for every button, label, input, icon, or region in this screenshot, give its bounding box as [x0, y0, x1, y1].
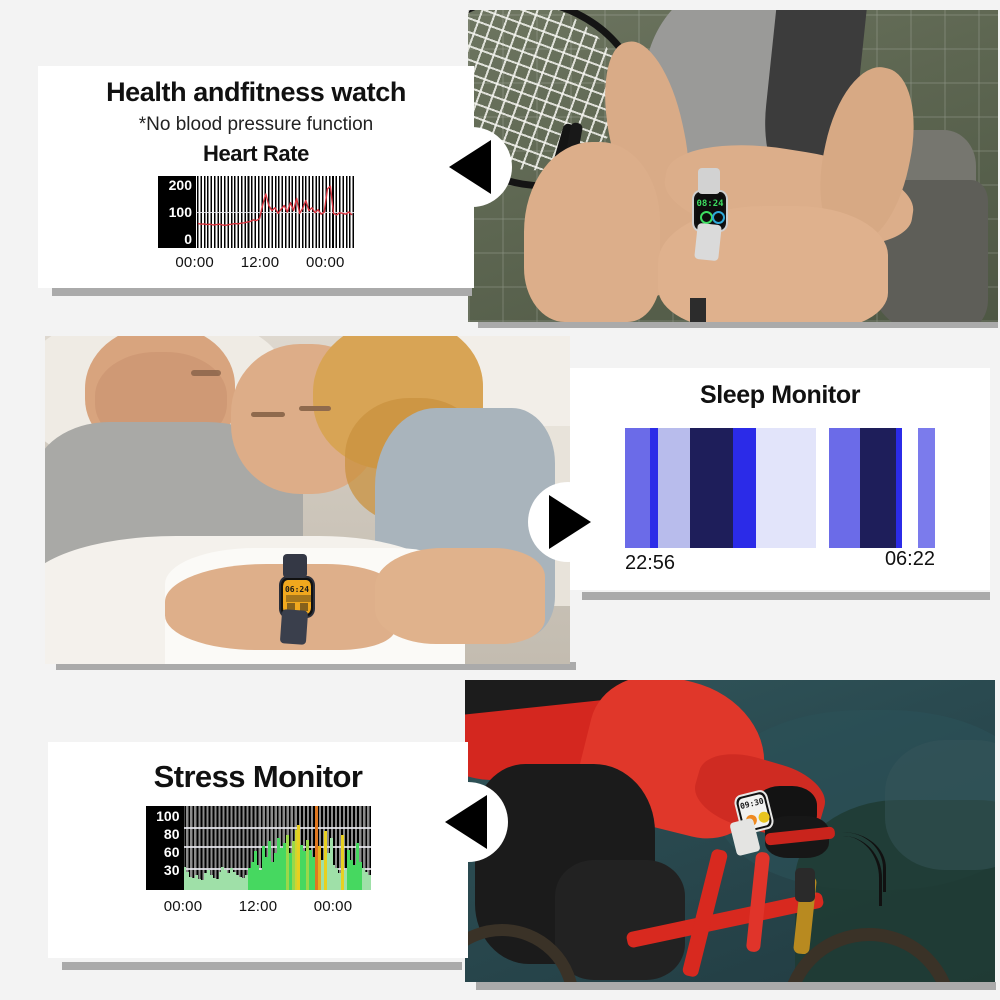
sleep-band-light: [829, 428, 860, 548]
x-tick: 12:00: [227, 254, 292, 271]
arrow-left-heart: [432, 127, 512, 207]
heart-card-disclaimer: *No blood pressure function: [38, 114, 474, 136]
sleep-end-time: 06:22: [885, 548, 935, 571]
x-tick: 00:00: [296, 898, 371, 915]
heart-rate-y-axis: 2001000: [158, 176, 196, 248]
watch-time-sleep: 06:24: [283, 585, 311, 594]
sleep-card-shadow: [582, 592, 990, 600]
heart-card-shadow: [52, 288, 472, 296]
arrow-right-icon: [549, 495, 591, 549]
watch-time-tennis: 08:24: [696, 199, 724, 209]
y-tick: 100: [156, 809, 179, 823]
y-tick: 0: [184, 232, 192, 246]
y-tick: 30: [164, 863, 180, 877]
sleep-band-light: [625, 428, 650, 548]
y-tick: 200: [169, 178, 192, 192]
sleep-band-light: [918, 428, 935, 548]
heart-rate-chart: 2001000 00:0012:0000:00: [158, 176, 354, 271]
sleep-band-gap: [816, 428, 829, 548]
x-tick: 00:00: [293, 254, 358, 271]
sleep-band-awake: [658, 428, 691, 548]
stress-y-axis: 100806030: [146, 806, 184, 890]
watch-time-cycling: 09:30: [738, 796, 765, 811]
tennis-photo: 08:24: [468, 10, 998, 322]
infographic-canvas: 08:24 Health andfitness watch *No blood …: [0, 0, 1000, 1000]
sleep-band-rem: [733, 428, 756, 548]
x-tick: 00:00: [162, 254, 227, 271]
sleep-band-deep: [860, 428, 897, 548]
heart-card-subtitle: Heart Rate: [38, 142, 474, 166]
sleep-start-time: 22:56: [625, 552, 675, 575]
heart-rate-card: Health andfitness watch *No blood pressu…: [38, 66, 474, 288]
stress-monitor-chart: 100806030 00:0012:0000:00: [146, 806, 371, 915]
sleep-band-gap: [902, 428, 917, 548]
arrow-left-icon: [445, 795, 487, 849]
sleep-card-title: Sleep Monitor: [570, 382, 990, 410]
stress-card-title: Stress Monitor: [48, 760, 468, 794]
y-tick: 60: [164, 845, 180, 859]
sleep-photo: 06:24: [45, 336, 570, 664]
arrow-right-sleep: [528, 482, 608, 562]
cycling-photo-shadow: [476, 982, 996, 990]
stress-card-shadow: [62, 962, 462, 970]
x-tick: 12:00: [221, 898, 296, 915]
cycling-photo: 09:30: [465, 680, 995, 982]
y-tick: 80: [164, 827, 180, 841]
sleep-band-deep: [690, 428, 732, 548]
sleep-band-awake: [756, 428, 816, 548]
sleep-monitor-card: Sleep Monitor 22:56 06:22: [570, 368, 990, 590]
stress-x-axis: 00:0012:0000:00: [146, 898, 371, 915]
arrow-left-icon: [449, 140, 491, 194]
sleep-band-rem: [650, 428, 658, 548]
sleep-monitor-chart: 22:56 06:22: [625, 428, 935, 576]
heart-card-title: Health andfitness watch: [38, 78, 474, 108]
x-tick: 00:00: [146, 898, 221, 915]
arrow-left-stress: [428, 782, 508, 862]
stress-bar: [368, 875, 371, 890]
y-tick: 100: [169, 205, 192, 219]
stress-monitor-card: Stress Monitor 100806030 00:0012:0000:00: [48, 742, 468, 958]
heart-rate-x-axis: 00:0012:0000:00: [162, 254, 358, 271]
